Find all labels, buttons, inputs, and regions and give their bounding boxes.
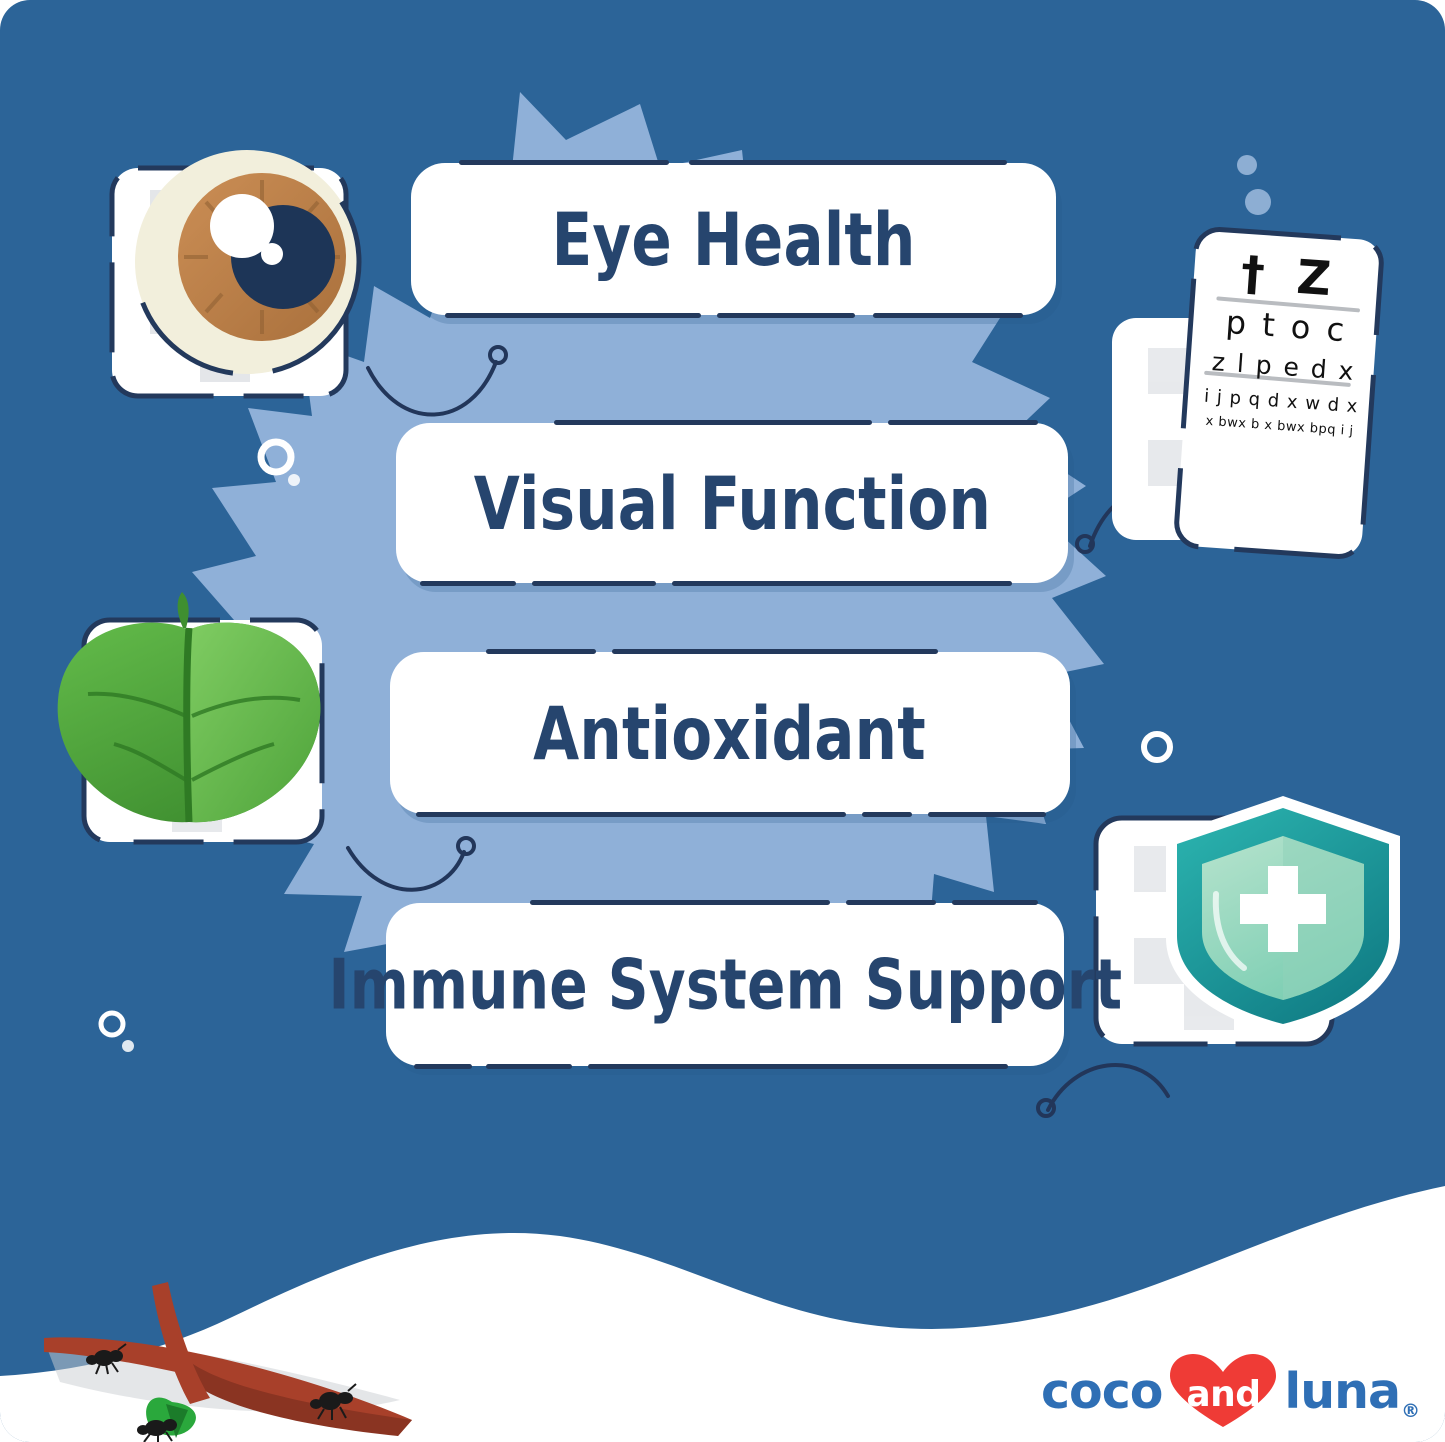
card-dash-bottom-a	[420, 581, 516, 586]
bubble-dot-topright-a	[1237, 155, 1257, 175]
benefit-label: Visual Function	[473, 460, 990, 546]
card-dash-top-a	[554, 420, 872, 425]
logo-word-and: and	[1186, 1374, 1260, 1415]
benefit-card-visual-function[interactable]: Visual Function	[396, 423, 1068, 583]
eye-chart-row-5: x bwx b x bwx bpq i j	[1205, 414, 1354, 441]
benefit-card-eye-health[interactable]: Eye Health	[411, 163, 1056, 315]
card-dash-bottom-b	[532, 581, 656, 586]
card-dash-bottom-b	[486, 1064, 572, 1069]
logo-word-luna: luna	[1284, 1367, 1400, 1416]
card-dash-top-a	[530, 900, 830, 905]
benefit-label: Antioxidant	[534, 690, 927, 776]
eyeball-icon	[112, 150, 359, 396]
bubble-dot-left-b	[122, 1040, 134, 1052]
shield-plus-icon	[1096, 796, 1400, 1044]
card-dash-bottom-a	[414, 1064, 472, 1069]
card-dash-top-b	[846, 900, 936, 905]
registered-mark: ®	[1401, 1400, 1420, 1422]
bubble-dot-small	[288, 474, 300, 486]
benefit-card-immune-system-support[interactable]: Immune System Support	[386, 903, 1064, 1066]
card-dash-bottom-b	[862, 812, 912, 817]
card-dash-bottom-c	[588, 1064, 1008, 1069]
card-dash-bottom-c	[873, 313, 1023, 318]
card-dash-bottom-c	[672, 581, 1012, 586]
card-dash-top-a	[486, 649, 596, 654]
benefit-label: Immune System Support	[328, 944, 1122, 1025]
eye-chart-row-1: † Z	[1239, 249, 1340, 305]
eye-chart-row-2: p t o c	[1224, 302, 1348, 352]
card-dash-bottom-c	[928, 812, 1046, 817]
benefit-label: Eye Health	[551, 196, 915, 282]
heart-leaf-icon	[58, 592, 322, 842]
card-dash-bottom-a	[445, 313, 701, 318]
logo-word-coco: coco	[1041, 1367, 1162, 1416]
card-dash-top-b	[888, 420, 1038, 425]
eye-chart-row-3: z l p e d x	[1211, 346, 1357, 388]
infographic-canvas: † Z p t o c z l p e d x i j p q d x w d …	[0, 0, 1445, 1442]
eye-chart-rows: † Z p t o c z l p e d x i j p q d x w d …	[1185, 230, 1378, 551]
card-dash-top-c	[952, 900, 1038, 905]
benefit-card-antioxidant[interactable]: Antioxidant	[390, 652, 1070, 814]
card-dash-top-a	[459, 160, 669, 165]
bubble-dot-topright-b	[1245, 189, 1271, 215]
card-dash-bottom-b	[717, 313, 855, 318]
brand-logo: coco and luna ®	[1041, 1352, 1401, 1430]
logo-heart-icon: and	[1164, 1352, 1282, 1430]
card-dash-top-b	[612, 649, 938, 654]
card-dash-top-b	[689, 160, 1007, 165]
card-dash-bottom-a	[416, 812, 846, 817]
